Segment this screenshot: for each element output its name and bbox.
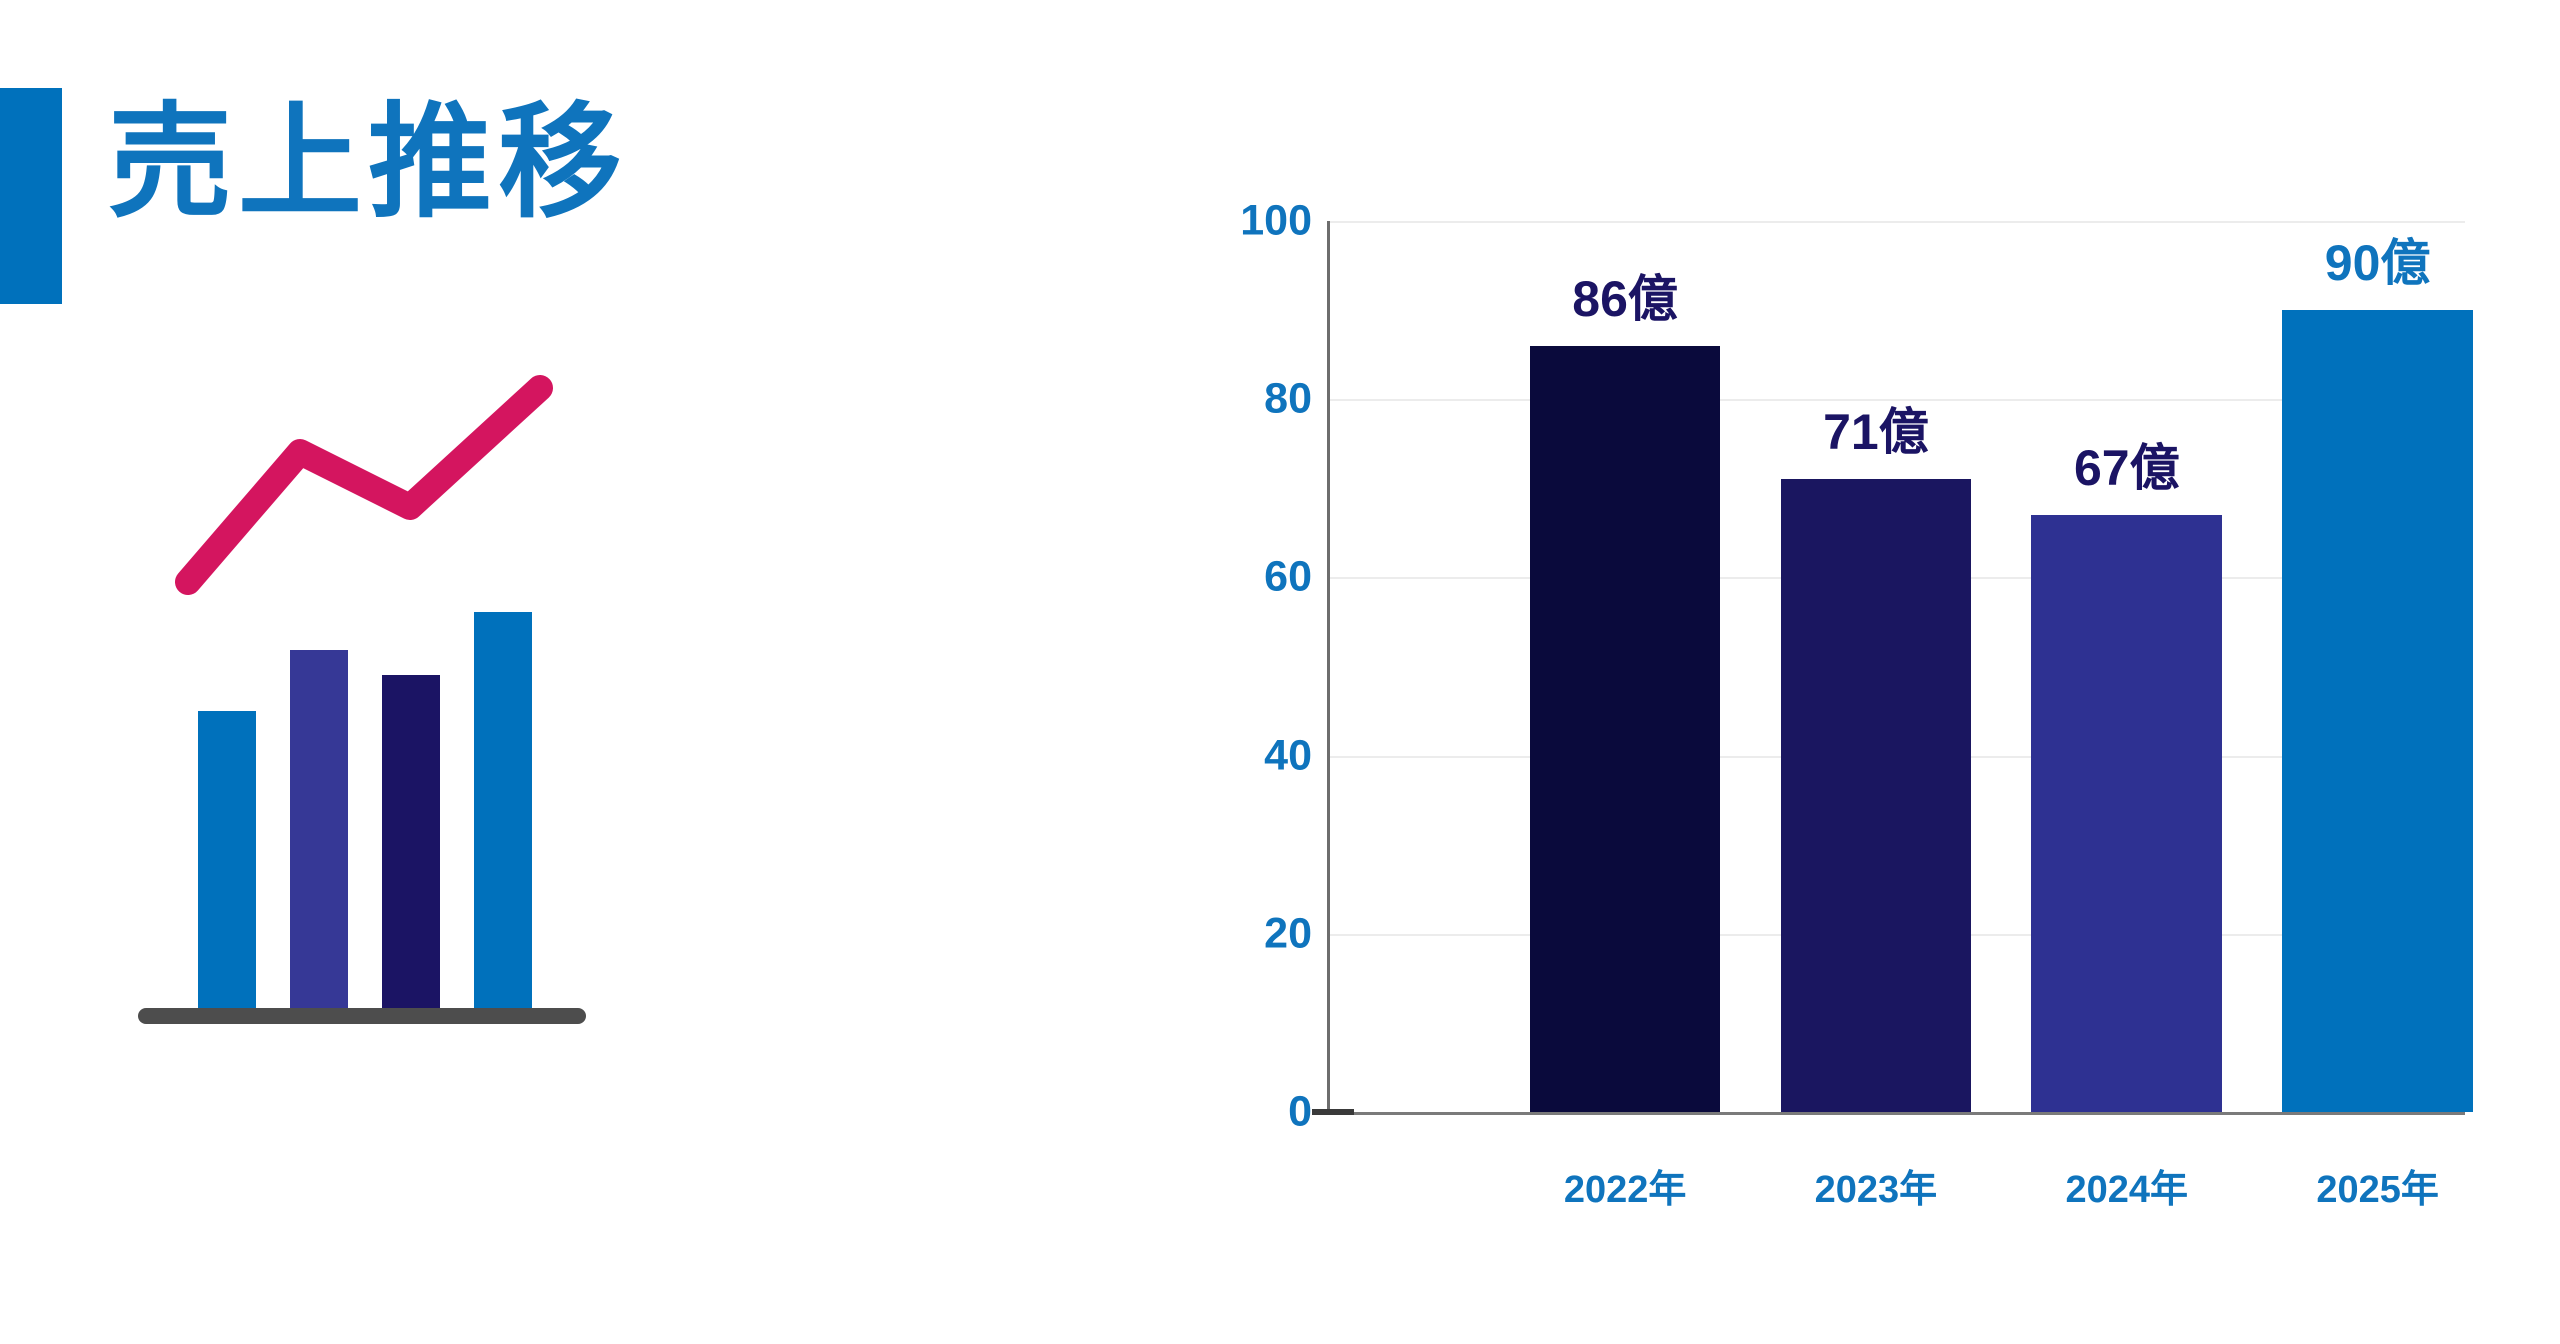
illustration-baseline — [138, 1008, 586, 1024]
x-label-2023: 2023年 — [1815, 1158, 1938, 1213]
bar-label-2023: 71億 — [1823, 407, 1929, 457]
sales-bar-chart: 100 80 60 40 20 0 86億 2022年 — [1200, 170, 2500, 1200]
bar-2024[interactable] — [2031, 515, 2222, 1112]
chart-illustration — [120, 360, 640, 1100]
bar-group-2022[interactable]: 86億 2022年 — [1506, 221, 1744, 1112]
bar-label-2024: 67億 — [2074, 443, 2180, 493]
illustration-bar-2 — [290, 650, 348, 1014]
illustration-bar-4 — [474, 612, 532, 1014]
x-label-2024: 2024年 — [2065, 1158, 2188, 1213]
x-axis-line — [1312, 1112, 2465, 1115]
y-axis: 100 80 60 40 20 0 — [1200, 170, 1312, 1200]
bar-series: 86億 2022年 71億 2023年 67億 2024年 90億 2025年 — [1330, 221, 2465, 1112]
x-label-2022: 2022年 — [1564, 1158, 1687, 1213]
plot-area: 86億 2022年 71億 2023年 67億 2024年 90億 2025年 — [1330, 221, 2465, 1112]
bar-group-2024[interactable]: 67億 2024年 — [2008, 221, 2246, 1112]
y-tick-40: 40 — [1264, 732, 1312, 781]
bar-2025[interactable] — [2282, 310, 2473, 1112]
bar-label-2025: 90億 — [2325, 238, 2431, 288]
illustration-bar-3 — [382, 675, 440, 1014]
bar-group-2025[interactable]: 90億 2025年 — [2258, 221, 2496, 1112]
bar-group-2023[interactable]: 71億 2023年 — [1757, 221, 1995, 1112]
bar-2022[interactable] — [1530, 346, 1721, 1112]
slide-canvas: 売上推移 100 80 60 40 20 0 — [0, 0, 2560, 1344]
page-title: 売上推移 — [108, 92, 628, 235]
illustration-trend-line — [188, 388, 540, 582]
y-tick-20: 20 — [1264, 910, 1312, 959]
y-tick-100: 100 — [1240, 197, 1312, 246]
bar-2023[interactable] — [1781, 479, 1972, 1112]
illustration-bar-1 — [198, 711, 256, 1014]
title-accent-bar — [0, 88, 62, 304]
y-tick-60: 60 — [1264, 553, 1312, 602]
x-label-2025: 2025年 — [2316, 1158, 2439, 1213]
bar-label-2022: 86億 — [1572, 274, 1678, 324]
y-tick-80: 80 — [1264, 375, 1312, 424]
y-tick-0: 0 — [1288, 1088, 1312, 1137]
